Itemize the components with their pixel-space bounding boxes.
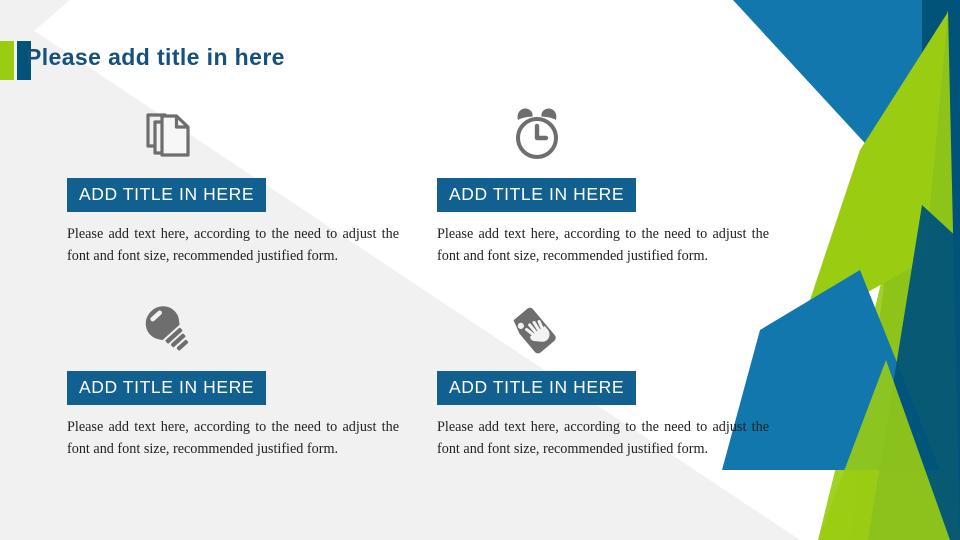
card-title-button-1[interactable]: ADD TITLE IN HERE [67, 178, 266, 212]
card-title-button-2[interactable]: ADD TITLE IN HERE [437, 178, 636, 212]
slide-canvas: Please add title in here ADD TITLE IN HE… [0, 0, 960, 540]
card-body-text-2: Please add text here, according to the n… [437, 224, 769, 267]
alarm-clock-icon [431, 104, 643, 166]
documents-copy-icon [61, 104, 273, 166]
card-body-text-4: Please add text here, according to the n… [437, 417, 769, 460]
card-title-button-3[interactable]: ADD TITLE IN HERE [67, 371, 266, 405]
page-title: Please add title in here [26, 44, 285, 71]
price-tag-hand-icon [431, 297, 643, 359]
content-card-4: ADD TITLE IN HERE Please add text here, … [437, 297, 777, 460]
content-card-3: ADD TITLE IN HERE Please add text here, … [67, 297, 407, 460]
content-card-1: ADD TITLE IN HERE Please add text here, … [67, 104, 407, 267]
content-card-2: ADD TITLE IN HERE Please add text here, … [437, 104, 777, 267]
lightbulb-icon [61, 297, 273, 359]
card-body-text-3: Please add text here, according to the n… [67, 417, 399, 460]
card-body-text-1: Please add text here, according to the n… [67, 224, 399, 267]
title-accent-bar-green [0, 41, 14, 80]
card-title-button-4[interactable]: ADD TITLE IN HERE [437, 371, 636, 405]
